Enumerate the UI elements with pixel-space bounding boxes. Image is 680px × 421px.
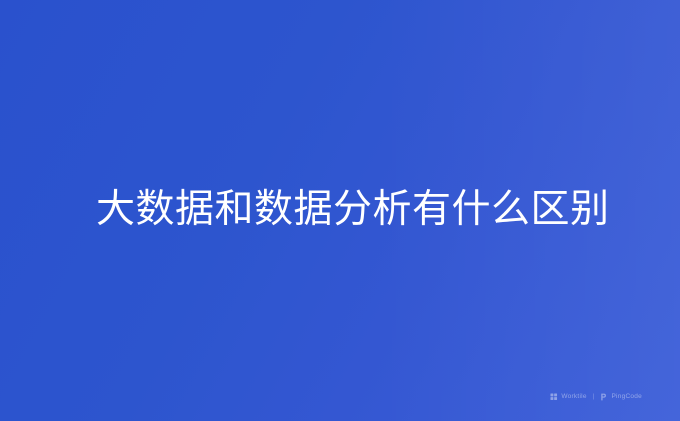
slide-canvas: 大数据和数据分析有什么区别 Worktile | PingCode xyxy=(0,0,680,421)
grid-squares-logo-icon xyxy=(550,393,558,401)
watermark-worktile: Worktile xyxy=(550,393,586,401)
watermark-pingcode-label: PingCode xyxy=(611,394,642,401)
watermark-worktile-label: Worktile xyxy=(561,394,586,401)
pingcode-logo-icon xyxy=(600,393,608,401)
page-title: 大数据和数据分析有什么区别 xyxy=(96,187,610,234)
watermark-separator: | xyxy=(592,394,596,401)
watermark: Worktile | PingCode xyxy=(550,393,642,401)
headline-container: 大数据和数据分析有什么区别 xyxy=(96,0,610,421)
watermark-pingcode: PingCode xyxy=(600,393,642,401)
